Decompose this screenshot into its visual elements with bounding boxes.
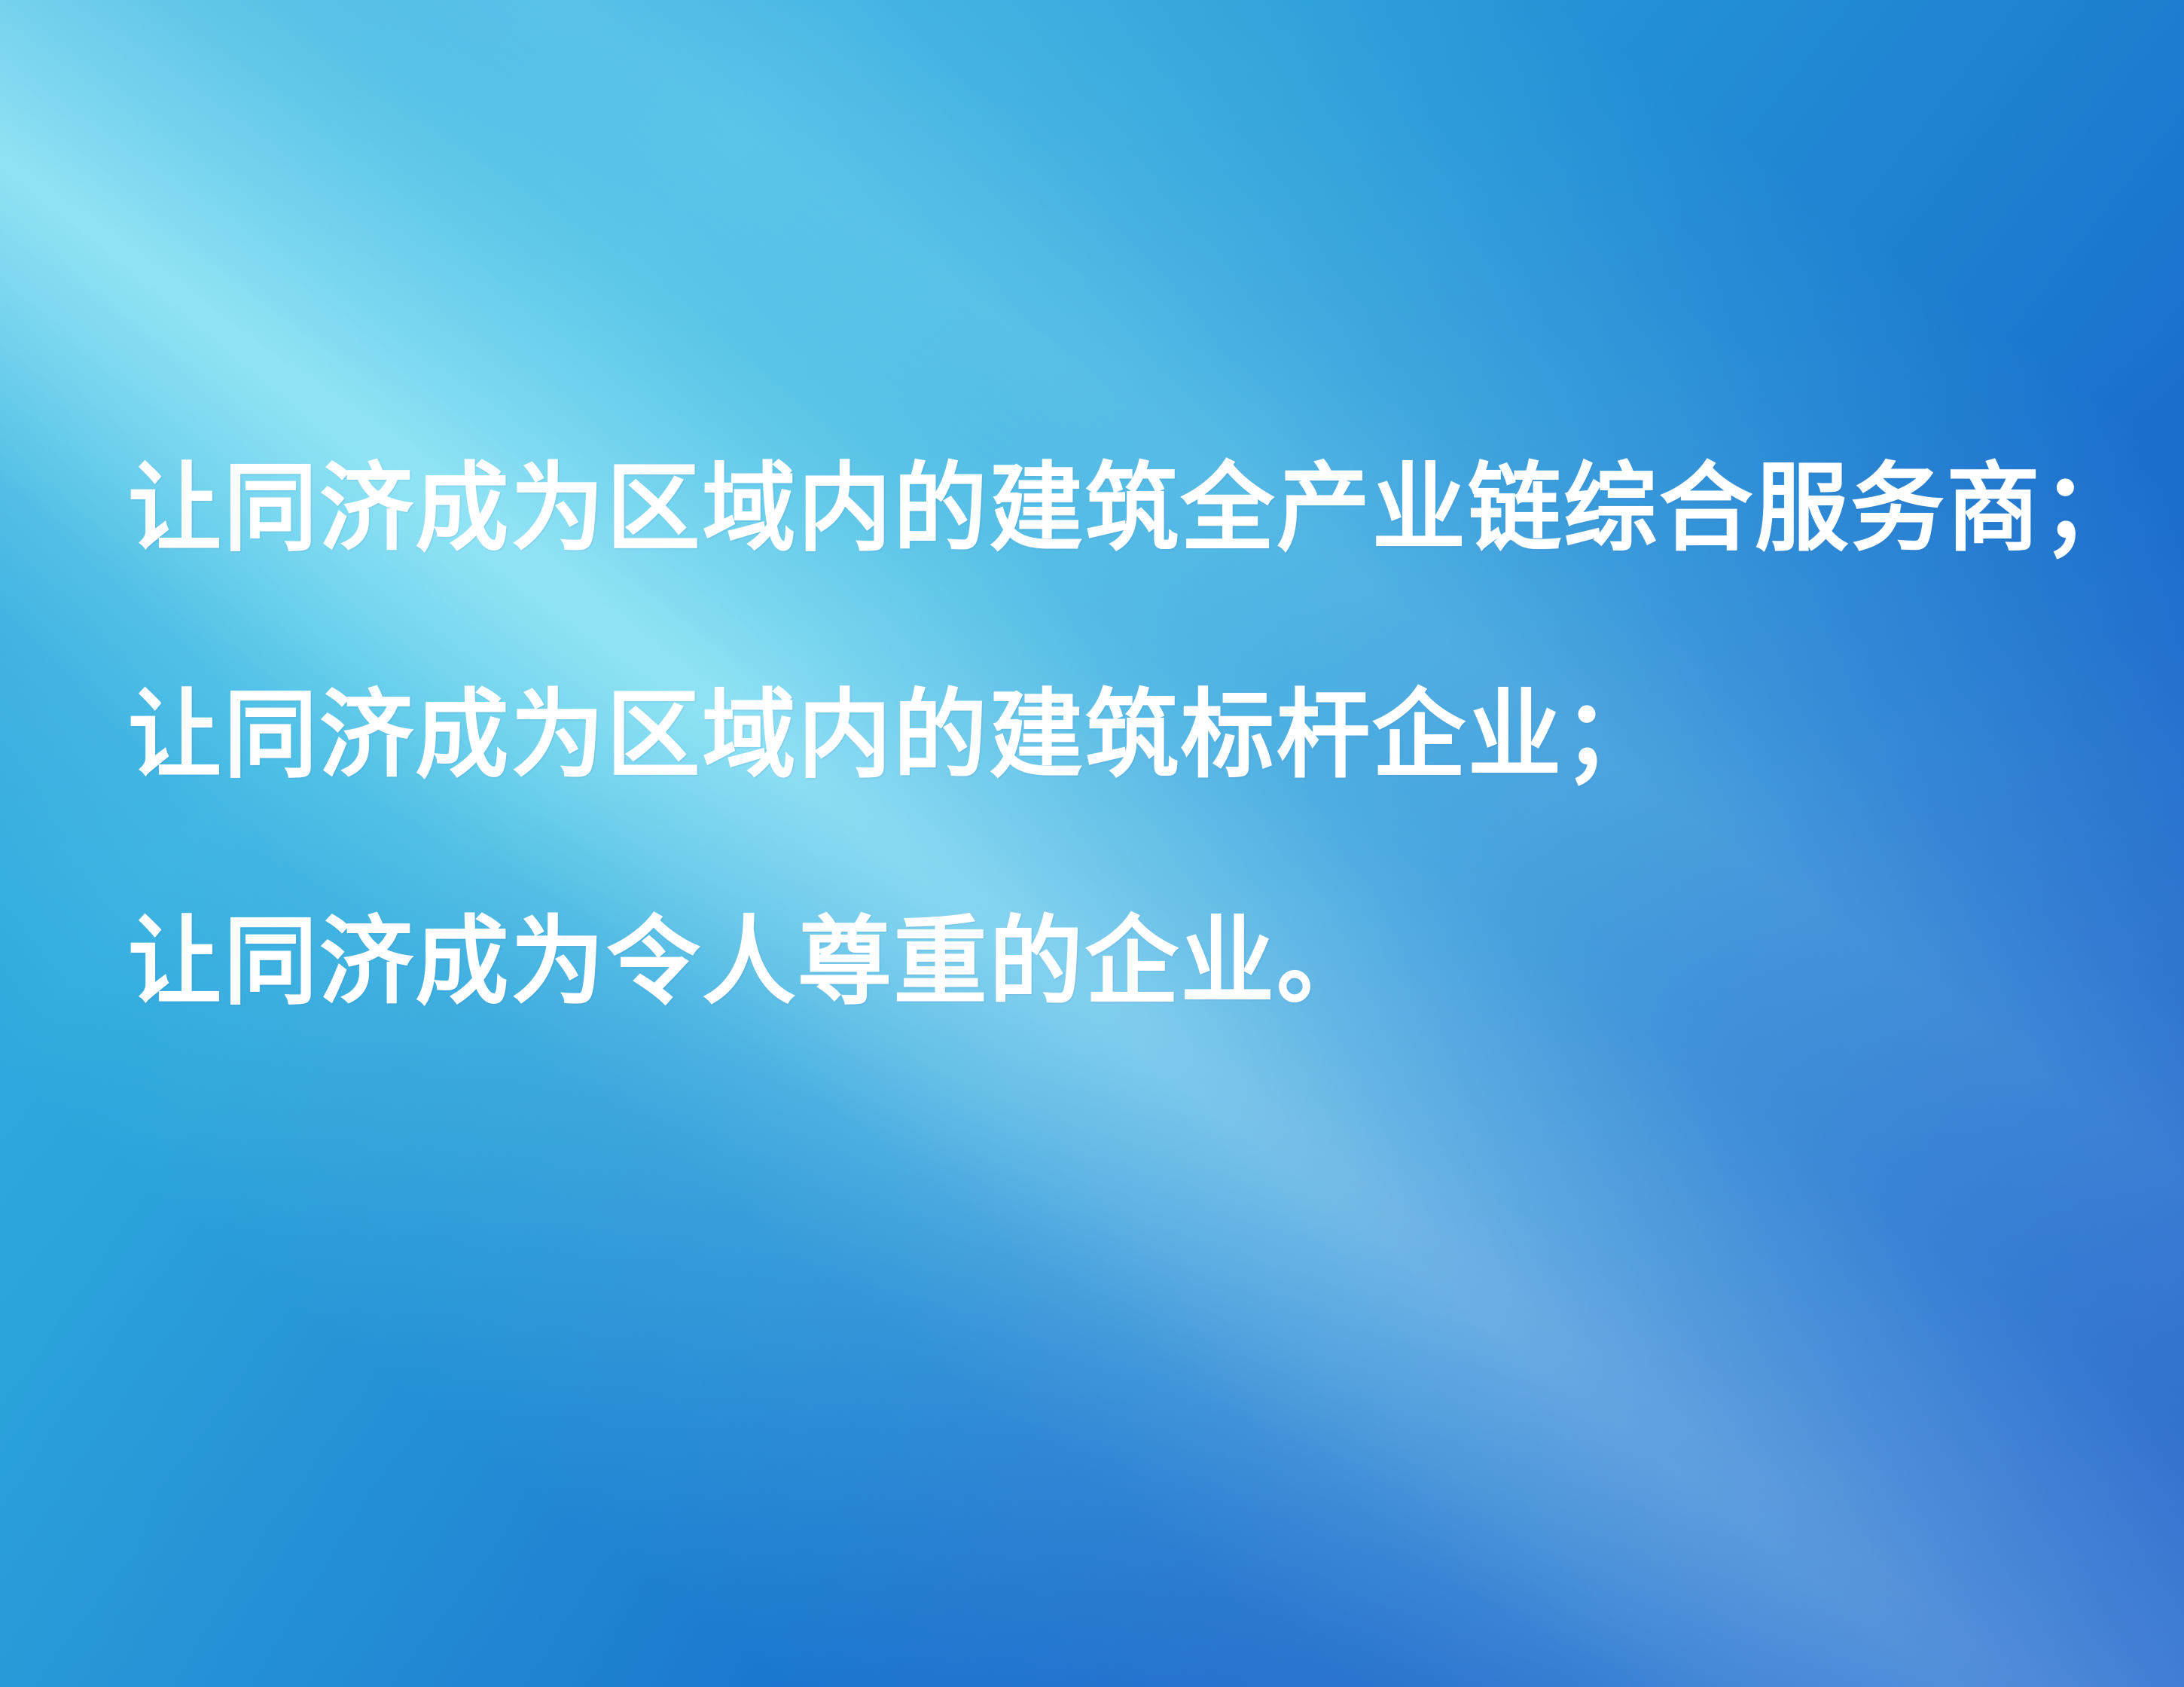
slide-text-block: 让同济成为区域内的建筑全产业链综合服务商； 让同济成为区域内的建筑标杆企业； 让…: [128, 461, 2086, 1011]
slide-text-line-3: 让同济成为令人尊重的企业。: [128, 914, 2027, 1011]
slide-text-line-2: 让同济成为区域内的建筑标杆企业；: [128, 688, 2027, 784]
slide-canvas: 让同济成为区域内的建筑全产业链综合服务商； 让同济成为区域内的建筑标杆企业； 让…: [0, 0, 2184, 1687]
slide-text-line-1: 让同济成为区域内的建筑全产业链综合服务商；: [128, 461, 2027, 557]
